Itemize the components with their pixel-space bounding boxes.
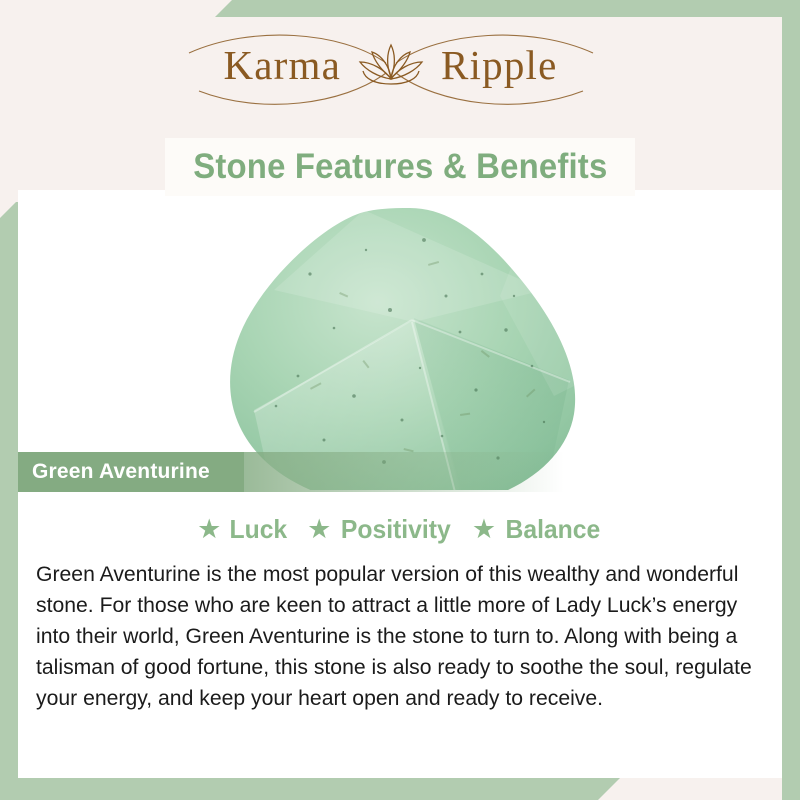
section-title-banner: Stone Features & Benefits	[165, 138, 635, 196]
frame-accent-right	[782, 0, 800, 800]
product-photo	[18, 190, 782, 490]
brand-name-left: Karma	[223, 42, 341, 88]
green-aventurine-stone-image	[214, 200, 604, 490]
feature-label: Balance	[506, 514, 601, 545]
feature-label: Luck	[230, 514, 288, 545]
brand-logo: Karma Ripple	[0, 28, 782, 106]
stone-name-band-fade	[244, 452, 564, 492]
star-icon: ★	[197, 516, 221, 543]
frame-accent-left	[0, 202, 18, 778]
stone-name: Green Aventurine	[18, 460, 210, 484]
content-panel: ★ Luck ★ Positivity ★ Balance Green Aven…	[18, 490, 782, 778]
star-icon: ★	[307, 516, 331, 543]
stone-name-band: Green Aventurine	[18, 452, 244, 492]
feature-item-positivity: ★ Positivity	[307, 514, 454, 545]
feature-label: Positivity	[341, 514, 451, 545]
brand-name-right: Ripple	[441, 42, 558, 88]
star-icon: ★	[472, 516, 496, 543]
feature-list: ★ Luck ★ Positivity ★ Balance	[18, 490, 782, 545]
lotus-icon	[360, 45, 422, 84]
product-infographic: Karma Ripple Stone Features & Benefits	[0, 0, 800, 800]
frame-accent-bottom-left	[0, 778, 620, 800]
stone-description: Green Aventurine is the most popular ver…	[36, 559, 753, 714]
stone-photo-canvas	[18, 190, 782, 490]
page-title: Stone Features & Benefits	[193, 147, 607, 187]
feature-item-balance: ★ Balance	[472, 514, 603, 545]
feature-item-luck: ★ Luck	[197, 514, 289, 545]
frame-accent-top-right	[215, 0, 800, 17]
